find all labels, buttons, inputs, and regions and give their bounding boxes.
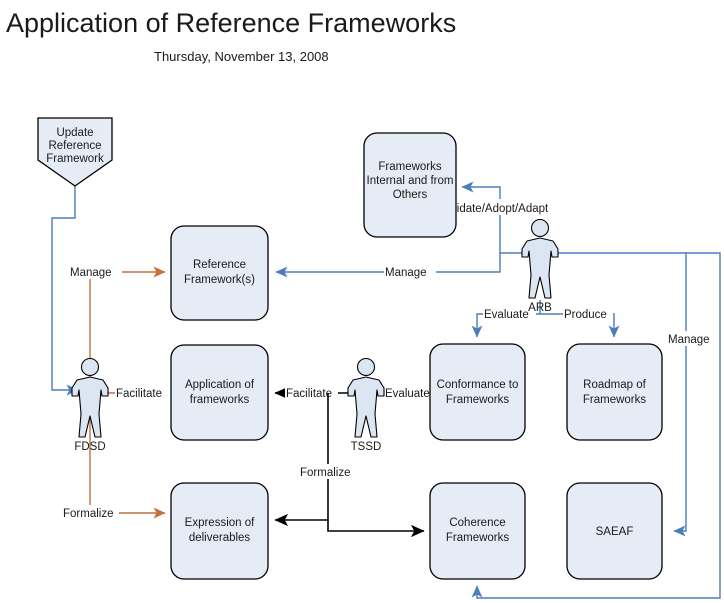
edge-label-manage-fdsd: Manage: [70, 267, 112, 279]
node-label-line2: Frameworks: [446, 394, 510, 406]
actor-label-arb: ARB: [528, 302, 552, 314]
actor-arb[interactable]: ARB: [522, 220, 558, 315]
node-label-line2: deliverables: [189, 532, 251, 544]
node-label-line1: Coherence: [449, 517, 505, 529]
node-label-line2: frameworks: [190, 394, 250, 406]
node-conformance-to-frameworks[interactable]: Conformance to Frameworks: [430, 344, 525, 440]
person-icon: [522, 220, 558, 299]
person-icon: [348, 359, 384, 438]
node-label-line1: SAEAF: [596, 526, 634, 538]
node-label-line1: Update: [56, 127, 93, 139]
node-coherence-frameworks[interactable]: Coherence Frameworks: [430, 483, 525, 579]
node-application-of-frameworks[interactable]: Application of frameworks: [171, 345, 268, 440]
edge-label-facilitate-tssd: Facilitate: [286, 388, 332, 400]
page-subtitle: Thursday, November 13, 2008: [154, 49, 329, 64]
node-label-line2: Frameworks: [583, 394, 647, 406]
node-label-line3: Others: [393, 189, 428, 201]
page-title: Application of Reference Frameworks: [6, 8, 456, 38]
edge-fdsd-manage-reference: [90, 272, 165, 380]
edge-arb-validate-frameworks: [462, 187, 500, 253]
edge-label-evaluate-tssd: Evaluate: [385, 388, 430, 400]
node-label-line2: Frameworks: [446, 532, 510, 544]
edge-fdsd-formalize-expression: [90, 415, 165, 513]
edge-label-manage-saeaf: Manage: [668, 334, 710, 346]
node-expression-of-deliverables[interactable]: Expression of deliverables: [171, 483, 268, 579]
node-label-line2: Framework(s): [184, 274, 255, 286]
node-label-line1: Frameworks: [378, 161, 442, 173]
edge-tssd-to-coherence: [328, 520, 424, 531]
node-label-line3: Framework: [46, 153, 104, 165]
actor-tssd[interactable]: TSSD: [348, 359, 384, 454]
node-update-reference-framework[interactable]: Update Reference Framework: [38, 118, 112, 186]
edge-label-validate-adopt-adapt: Validate/Adopt/Adapt: [441, 203, 549, 215]
node-label-line1: Conformance to: [437, 379, 519, 391]
edge-label-facilitate-fdsd: Facilitate: [116, 388, 162, 400]
diagram-canvas: Application of Reference Frameworks Thur…: [0, 0, 724, 603]
application-of-reference-frameworks-diagram: Application of Reference Frameworks Thur…: [0, 0, 724, 603]
actor-label-tssd: TSSD: [351, 441, 382, 453]
edge-label-produce-arb: Produce: [564, 309, 607, 321]
edge-label-evaluate-arb: Evaluate: [484, 309, 529, 321]
actor-label-fdsd: FDSD: [74, 441, 105, 453]
edge-label-manage-arb: Manage: [385, 267, 427, 279]
node-label-line2: Internal and from: [367, 175, 454, 187]
node-label-line1: Application of: [185, 379, 255, 391]
node-label-line1: Roadmap of: [583, 379, 646, 391]
node-label-line1: Expression of: [185, 517, 255, 529]
node-roadmap-of-frameworks[interactable]: Roadmap of Frameworks: [567, 344, 662, 440]
node-saeaf[interactable]: SAEAF: [567, 483, 662, 579]
node-frameworks-internal-and-from-others[interactable]: Frameworks Internal and from Others: [364, 133, 456, 237]
node-label-line2: Reference: [48, 140, 101, 152]
node-reference-frameworks[interactable]: Reference Framework(s): [171, 226, 268, 320]
node-label-line1: Reference: [193, 259, 246, 271]
edge-update-to-fdsd: [52, 186, 78, 390]
edge-label-formalize-tssd: Formalize: [300, 467, 350, 479]
edge-label-formalize-fdsd: Formalize: [63, 508, 113, 520]
edge-tssd-formalize-expression: [275, 393, 328, 520]
